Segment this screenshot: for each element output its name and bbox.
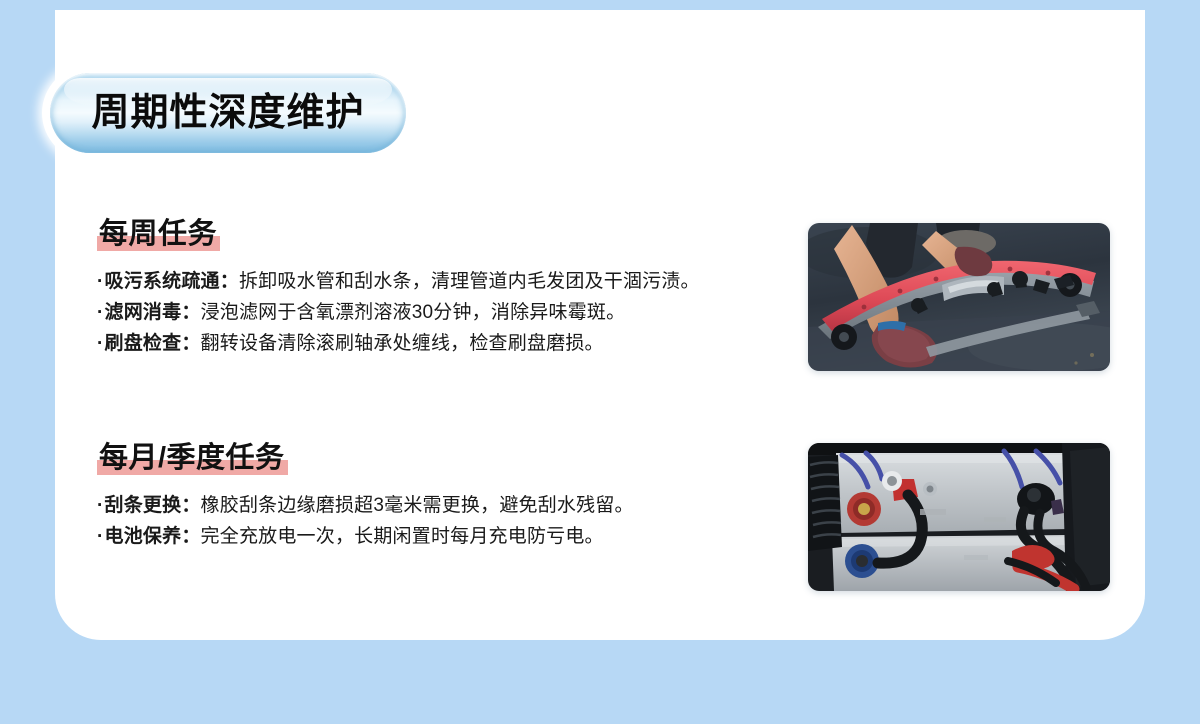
section-heading-weekly: 每周任务 <box>97 216 220 253</box>
list-item: ·刷盘检查：翻转设备清除滚刷轴承处缠线，检查刷盘磨损。 <box>97 329 700 360</box>
bullet-list-weekly: ·吸污系统疏通：拆卸吸水管和刮水条，清理管道内毛发团及干涸污渍。 ·滤网消毒：浸… <box>97 267 700 359</box>
squeegee-maintenance-photo <box>808 223 1110 371</box>
list-item: ·滤网消毒：浸泡滤网于含氧漂剂溶液30分钟，消除异味霉斑。 <box>97 298 700 329</box>
bullet-rest: 拆卸吸水管和刮水条，清理管道内毛发团及干涸污渍。 <box>239 271 700 292</box>
bullet-list-monthly: ·刮条更换：橡胶刮条边缘磨损超3毫米需更换，避免刮水残留。 ·电池保养：完全充放… <box>97 491 634 553</box>
list-item: ·刮条更换：橡胶刮条边缘磨损超3毫米需更换，避免刮水残留。 <box>97 491 634 522</box>
bullet-marker-icon: · <box>97 271 104 292</box>
list-item: ·吸污系统疏通：拆卸吸水管和刮水条，清理管道内毛发团及干涸污渍。 <box>97 267 700 298</box>
bullet-marker-icon: · <box>97 495 104 516</box>
heading-text: 每周任务 <box>99 218 217 250</box>
bullet-rest: 翻转设备清除滚刷轴承处缠线，检查刷盘磨损。 <box>201 333 604 354</box>
bullet-rest: 完全充放电一次，长期闲置时每月充电防亏电。 <box>201 526 604 547</box>
bullet-rest: 浸泡滤网于含氧漂剂溶液30分钟，消除异味霉斑。 <box>201 302 626 323</box>
bullet-lead: 吸污系统疏通： <box>105 271 239 292</box>
squeegee-photo-art <box>808 223 1110 371</box>
title-badge-label: 周期性深度维护 <box>91 94 364 132</box>
title-badge: 周期性深度维护 <box>42 65 414 161</box>
bullet-marker-icon: · <box>97 526 104 547</box>
battery-terminals-photo <box>808 443 1110 591</box>
section-weekly-tasks: 每周任务 ·吸污系统疏通：拆卸吸水管和刮水条，清理管道内毛发团及干涸污渍。 ·滤… <box>97 216 700 359</box>
heading-text: 每月/季度任务 <box>99 442 285 474</box>
section-monthly-tasks: 每月/季度任务 ·刮条更换：橡胶刮条边缘磨损超3毫米需更换，避免刮水残留。 ·电… <box>97 440 634 553</box>
section-heading-monthly: 每月/季度任务 <box>97 440 288 477</box>
bullet-marker-icon: · <box>97 333 104 354</box>
battery-photo-art <box>808 443 1110 591</box>
bullet-lead: 刷盘检查： <box>105 333 201 354</box>
bullet-lead: 刮条更换： <box>105 495 201 516</box>
list-item: ·电池保养：完全充放电一次，长期闲置时每月充电防亏电。 <box>97 522 634 553</box>
bullet-lead: 滤网消毒： <box>105 302 201 323</box>
bullet-rest: 橡胶刮条边缘磨损超3毫米需更换，避免刮水残留。 <box>201 495 634 516</box>
bullet-marker-icon: · <box>97 302 104 323</box>
title-badge-pill: 周期性深度维护 <box>50 73 406 153</box>
bullet-lead: 电池保养： <box>105 526 201 547</box>
